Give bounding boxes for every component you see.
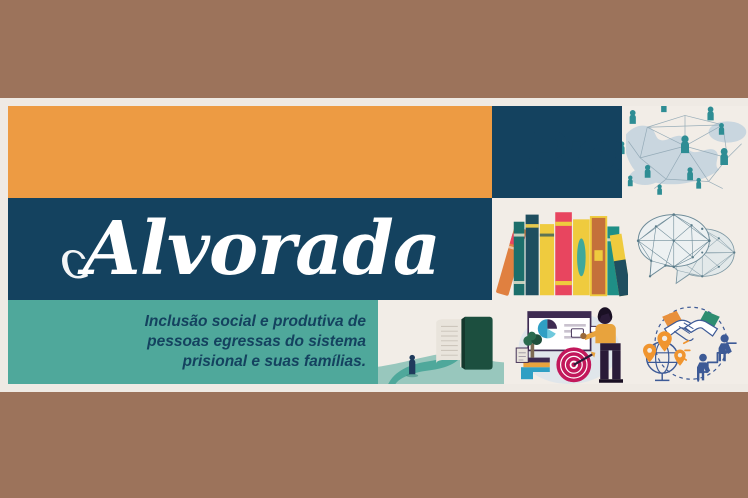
title-alvorada-group: ɔ Alvorada bbox=[8, 198, 492, 300]
orange-band bbox=[8, 106, 492, 198]
books-image-canvas bbox=[492, 198, 628, 300]
presentation-image-canvas bbox=[504, 300, 634, 384]
speech-bubbles-mesh-image bbox=[628, 198, 748, 300]
subtitle-block: Inclusão social e produtiva de pessoas e… bbox=[8, 300, 378, 384]
open-book-doorway-image bbox=[378, 300, 504, 384]
subtitle-line-1: Inclusão social e produtiva de bbox=[145, 313, 366, 330]
banner-outer-frame: Projeto ɔ Alvorada Inclusão social e pro… bbox=[0, 98, 748, 392]
handshake-partnership-image bbox=[634, 300, 748, 384]
network-image-canvas bbox=[622, 106, 748, 198]
woman-presenting-charts-image bbox=[504, 300, 634, 384]
door-image-canvas bbox=[378, 300, 504, 384]
subtitle-line-3: prisional e suas famílias. bbox=[183, 353, 367, 370]
bubbles-image-canvas bbox=[628, 198, 748, 300]
global-network-of-people-image bbox=[622, 106, 748, 198]
partnership-image-canvas bbox=[634, 300, 748, 384]
page-title: Alvorada bbox=[83, 212, 440, 286]
row-of-books-image bbox=[492, 198, 628, 300]
subtitle-line-2: pessoas egressas do sistema bbox=[147, 333, 366, 350]
title-swash-ornament: ɔ bbox=[60, 231, 89, 291]
project-banner: Projeto ɔ Alvorada Inclusão social e pro… bbox=[8, 106, 748, 384]
